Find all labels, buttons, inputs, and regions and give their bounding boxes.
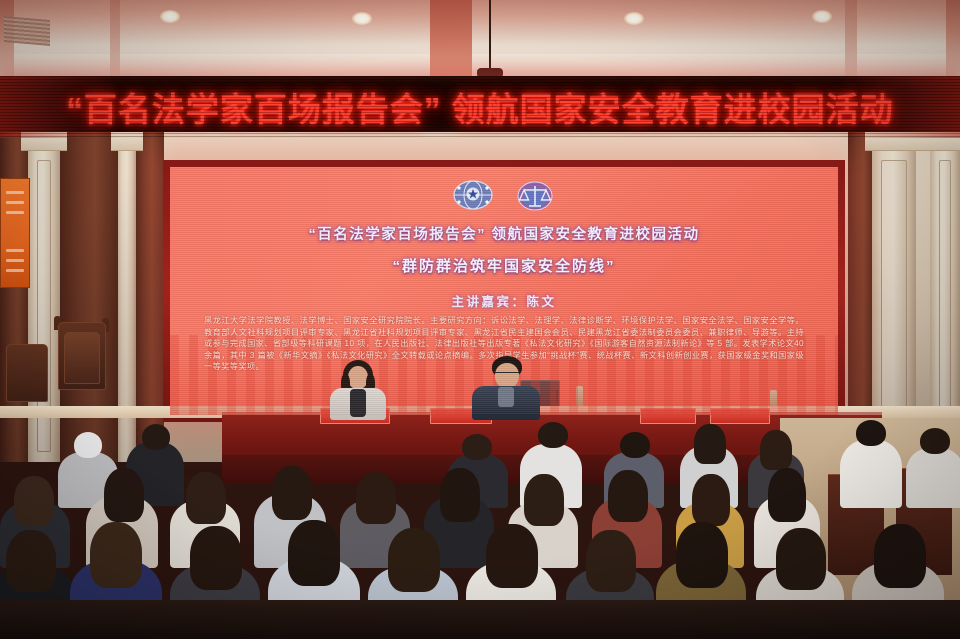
audience-head bbox=[856, 420, 886, 446]
ceiling-beam bbox=[845, 0, 857, 82]
audience-hair bbox=[388, 528, 440, 592]
audience-head bbox=[142, 424, 170, 450]
ceiling-beam bbox=[430, 0, 472, 82]
air-vent bbox=[4, 16, 50, 46]
audience-head bbox=[920, 428, 950, 454]
audience-hair bbox=[776, 528, 826, 590]
downlight-icon bbox=[160, 10, 180, 23]
downlight-icon bbox=[352, 12, 372, 25]
led-scrolling-banner: “百名法学家百场报告会” 领航国家安全教育进校园活动 bbox=[0, 76, 960, 138]
moderator-head bbox=[348, 366, 368, 389]
ornate-chair bbox=[4, 340, 50, 412]
downlight-icon bbox=[624, 12, 644, 25]
audience-hair bbox=[486, 524, 538, 588]
foreground-shadow bbox=[0, 600, 960, 639]
audience-hair bbox=[288, 520, 340, 586]
audience-hair bbox=[90, 522, 142, 588]
lecture-hall-photo: “百名法学家百场报告会” 领航国家安全教育进校园活动 bbox=[0, 0, 960, 639]
slide-guest-line: 主讲嘉宾：陈文 bbox=[170, 291, 838, 310]
audience-hair bbox=[676, 522, 728, 588]
lecturer-glasses bbox=[495, 372, 519, 378]
lecturer-inner-shirt bbox=[498, 387, 514, 407]
led-banner-text: “百名法学家百场报告会” 领航国家安全教育进校园活动 bbox=[0, 76, 960, 138]
audience-hair bbox=[6, 530, 56, 592]
audience-head bbox=[620, 432, 650, 458]
audience-head bbox=[74, 432, 102, 458]
ceiling bbox=[0, 0, 960, 82]
ornate-chair bbox=[52, 316, 112, 412]
ceiling-beam bbox=[110, 0, 120, 82]
moderator-inner-top bbox=[350, 389, 366, 417]
audience-head bbox=[538, 422, 568, 448]
slide-subtitle: “群防群治筑牢国家安全防线” bbox=[170, 255, 838, 276]
speaker-right-lecturer bbox=[470, 356, 542, 418]
downlight-icon bbox=[812, 10, 832, 23]
side-poster bbox=[0, 178, 30, 288]
slide-title: “百名法学家百场报告会” 领航国家安全教育进校园活动 bbox=[170, 223, 838, 244]
banner-suspension-rod bbox=[489, 0, 491, 72]
audience-hair bbox=[586, 530, 636, 592]
speaker-left-moderator bbox=[326, 360, 390, 418]
audience-hair bbox=[874, 524, 926, 588]
ceiling-beam bbox=[946, 0, 960, 82]
audience-hair bbox=[190, 526, 242, 590]
